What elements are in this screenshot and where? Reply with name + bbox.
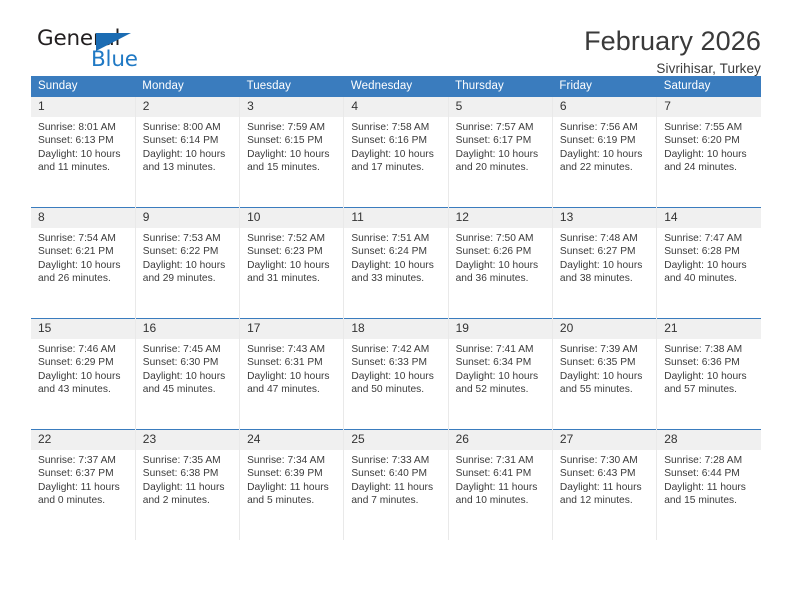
day-details: Sunrise: 7:38 AM Sunset: 6:36 PM Dayligh… — [657, 339, 761, 397]
calendar-day-cell[interactable]: 8Sunrise: 7:54 AM Sunset: 6:21 PM Daylig… — [31, 208, 135, 319]
calendar-body: 1Sunrise: 8:01 AM Sunset: 6:13 PM Daylig… — [31, 97, 761, 540]
day-details: Sunrise: 8:01 AM Sunset: 6:13 PM Dayligh… — [31, 117, 135, 175]
day-number: 28 — [657, 430, 761, 450]
day-details: Sunrise: 7:59 AM Sunset: 6:15 PM Dayligh… — [240, 117, 343, 175]
day-details: Sunrise: 7:57 AM Sunset: 6:17 PM Dayligh… — [449, 117, 552, 175]
day-details: Sunrise: 7:41 AM Sunset: 6:34 PM Dayligh… — [449, 339, 552, 397]
day-number: 14 — [657, 208, 761, 228]
calendar-day-cell[interactable]: 4Sunrise: 7:58 AM Sunset: 6:16 PM Daylig… — [344, 97, 448, 208]
calendar-day-cell[interactable]: 6Sunrise: 7:56 AM Sunset: 6:19 PM Daylig… — [552, 97, 656, 208]
day-details: Sunrise: 7:45 AM Sunset: 6:30 PM Dayligh… — [136, 339, 239, 397]
calendar-day-cell[interactable]: 27Sunrise: 7:30 AM Sunset: 6:43 PM Dayli… — [552, 430, 656, 541]
calendar-day-cell[interactable]: 9Sunrise: 7:53 AM Sunset: 6:22 PM Daylig… — [135, 208, 239, 319]
calendar-day-cell[interactable]: 26Sunrise: 7:31 AM Sunset: 6:41 PM Dayli… — [448, 430, 552, 541]
day-number: 6 — [553, 97, 656, 117]
day-number: 18 — [344, 319, 447, 339]
day-number: 1 — [31, 97, 135, 117]
calendar-week-row: 8Sunrise: 7:54 AM Sunset: 6:21 PM Daylig… — [31, 208, 761, 319]
calendar-day-cell[interactable]: 21Sunrise: 7:38 AM Sunset: 6:36 PM Dayli… — [657, 319, 761, 430]
weekday-header-monday: Monday — [135, 76, 239, 97]
calendar-day-cell[interactable]: 23Sunrise: 7:35 AM Sunset: 6:38 PM Dayli… — [135, 430, 239, 541]
day-details: Sunrise: 7:35 AM Sunset: 6:38 PM Dayligh… — [136, 450, 239, 508]
weekday-header-thursday: Thursday — [448, 76, 552, 97]
calendar-day-cell[interactable]: 15Sunrise: 7:46 AM Sunset: 6:29 PM Dayli… — [31, 319, 135, 430]
day-details: Sunrise: 7:39 AM Sunset: 6:35 PM Dayligh… — [553, 339, 656, 397]
day-number: 15 — [31, 319, 135, 339]
general-blue-logo[interactable]: General Blue — [31, 26, 161, 72]
day-number: 5 — [449, 97, 552, 117]
day-number: 21 — [657, 319, 761, 339]
day-number: 23 — [136, 430, 239, 450]
day-number: 19 — [449, 319, 552, 339]
day-details: Sunrise: 7:43 AM Sunset: 6:31 PM Dayligh… — [240, 339, 343, 397]
page-subtitle: Sivrihisar, Turkey — [584, 61, 761, 76]
day-details: Sunrise: 7:46 AM Sunset: 6:29 PM Dayligh… — [31, 339, 135, 397]
calendar-day-cell[interactable]: 13Sunrise: 7:48 AM Sunset: 6:27 PM Dayli… — [552, 208, 656, 319]
day-number: 9 — [136, 208, 239, 228]
day-number: 3 — [240, 97, 343, 117]
day-number: 10 — [240, 208, 343, 228]
logo-text-blue: Blue — [91, 47, 138, 72]
day-details: Sunrise: 7:30 AM Sunset: 6:43 PM Dayligh… — [553, 450, 656, 508]
day-number: 26 — [449, 430, 552, 450]
day-details: Sunrise: 7:51 AM Sunset: 6:24 PM Dayligh… — [344, 228, 447, 286]
calendar-week-row: 15Sunrise: 7:46 AM Sunset: 6:29 PM Dayli… — [31, 319, 761, 430]
calendar-header-row: Sunday Monday Tuesday Wednesday Thursday… — [31, 76, 761, 97]
calendar-day-cell[interactable]: 20Sunrise: 7:39 AM Sunset: 6:35 PM Dayli… — [552, 319, 656, 430]
weekday-header-friday: Friday — [552, 76, 656, 97]
calendar-day-cell[interactable]: 7Sunrise: 7:55 AM Sunset: 6:20 PM Daylig… — [657, 97, 761, 208]
day-number: 27 — [553, 430, 656, 450]
day-details: Sunrise: 7:52 AM Sunset: 6:23 PM Dayligh… — [240, 228, 343, 286]
day-details: Sunrise: 7:54 AM Sunset: 6:21 PM Dayligh… — [31, 228, 135, 286]
day-details: Sunrise: 7:50 AM Sunset: 6:26 PM Dayligh… — [449, 228, 552, 286]
weekday-header-tuesday: Tuesday — [240, 76, 344, 97]
day-details: Sunrise: 7:28 AM Sunset: 6:44 PM Dayligh… — [657, 450, 761, 508]
calendar-day-cell[interactable]: 10Sunrise: 7:52 AM Sunset: 6:23 PM Dayli… — [240, 208, 344, 319]
page-header: General Blue February 2026 Sivrihisar, T… — [31, 0, 761, 72]
day-details: Sunrise: 7:53 AM Sunset: 6:22 PM Dayligh… — [136, 228, 239, 286]
day-details: Sunrise: 7:48 AM Sunset: 6:27 PM Dayligh… — [553, 228, 656, 286]
calendar-week-row: 22Sunrise: 7:37 AM Sunset: 6:37 PM Dayli… — [31, 430, 761, 541]
calendar-page: General Blue February 2026 Sivrihisar, T… — [0, 0, 792, 612]
day-details: Sunrise: 7:37 AM Sunset: 6:37 PM Dayligh… — [31, 450, 135, 508]
calendar-day-cell[interactable]: 16Sunrise: 7:45 AM Sunset: 6:30 PM Dayli… — [135, 319, 239, 430]
calendar-day-cell[interactable]: 3Sunrise: 7:59 AM Sunset: 6:15 PM Daylig… — [240, 97, 344, 208]
day-details: Sunrise: 7:58 AM Sunset: 6:16 PM Dayligh… — [344, 117, 447, 175]
day-number: 22 — [31, 430, 135, 450]
day-details: Sunrise: 7:33 AM Sunset: 6:40 PM Dayligh… — [344, 450, 447, 508]
calendar-day-cell[interactable]: 28Sunrise: 7:28 AM Sunset: 6:44 PM Dayli… — [657, 430, 761, 541]
calendar-day-cell[interactable]: 17Sunrise: 7:43 AM Sunset: 6:31 PM Dayli… — [240, 319, 344, 430]
calendar-day-cell[interactable]: 11Sunrise: 7:51 AM Sunset: 6:24 PM Dayli… — [344, 208, 448, 319]
calendar-day-cell[interactable]: 25Sunrise: 7:33 AM Sunset: 6:40 PM Dayli… — [344, 430, 448, 541]
day-number: 7 — [657, 97, 761, 117]
calendar-day-cell[interactable]: 22Sunrise: 7:37 AM Sunset: 6:37 PM Dayli… — [31, 430, 135, 541]
calendar-day-cell[interactable]: 5Sunrise: 7:57 AM Sunset: 6:17 PM Daylig… — [448, 97, 552, 208]
calendar-day-cell[interactable]: 19Sunrise: 7:41 AM Sunset: 6:34 PM Dayli… — [448, 319, 552, 430]
calendar-day-cell[interactable]: 14Sunrise: 7:47 AM Sunset: 6:28 PM Dayli… — [657, 208, 761, 319]
day-number: 11 — [344, 208, 447, 228]
weekday-header-wednesday: Wednesday — [344, 76, 448, 97]
calendar-day-cell[interactable]: 1Sunrise: 8:01 AM Sunset: 6:13 PM Daylig… — [31, 97, 135, 208]
calendar-table: Sunday Monday Tuesday Wednesday Thursday… — [31, 76, 761, 540]
day-number: 12 — [449, 208, 552, 228]
day-number: 13 — [553, 208, 656, 228]
calendar-week-row: 1Sunrise: 8:01 AM Sunset: 6:13 PM Daylig… — [31, 97, 761, 208]
day-number: 16 — [136, 319, 239, 339]
day-number: 8 — [31, 208, 135, 228]
title-block: February 2026 Sivrihisar, Turkey — [584, 26, 761, 76]
day-number: 17 — [240, 319, 343, 339]
weekday-header-saturday: Saturday — [657, 76, 761, 97]
day-number: 2 — [136, 97, 239, 117]
day-number: 24 — [240, 430, 343, 450]
page-title: February 2026 — [584, 27, 761, 56]
calendar-day-cell[interactable]: 2Sunrise: 8:00 AM Sunset: 6:14 PM Daylig… — [135, 97, 239, 208]
weekday-header-sunday: Sunday — [31, 76, 135, 97]
day-details: Sunrise: 7:31 AM Sunset: 6:41 PM Dayligh… — [449, 450, 552, 508]
day-details: Sunrise: 7:47 AM Sunset: 6:28 PM Dayligh… — [657, 228, 761, 286]
day-number: 4 — [344, 97, 447, 117]
day-details: Sunrise: 7:34 AM Sunset: 6:39 PM Dayligh… — [240, 450, 343, 508]
day-details: Sunrise: 7:55 AM Sunset: 6:20 PM Dayligh… — [657, 117, 761, 175]
day-details: Sunrise: 7:42 AM Sunset: 6:33 PM Dayligh… — [344, 339, 447, 397]
day-details: Sunrise: 8:00 AM Sunset: 6:14 PM Dayligh… — [136, 117, 239, 175]
calendar-day-cell[interactable]: 18Sunrise: 7:42 AM Sunset: 6:33 PM Dayli… — [344, 319, 448, 430]
day-number: 25 — [344, 430, 447, 450]
calendar-day-cell[interactable]: 12Sunrise: 7:50 AM Sunset: 6:26 PM Dayli… — [448, 208, 552, 319]
calendar-day-cell[interactable]: 24Sunrise: 7:34 AM Sunset: 6:39 PM Dayli… — [240, 430, 344, 541]
day-details: Sunrise: 7:56 AM Sunset: 6:19 PM Dayligh… — [553, 117, 656, 175]
day-number: 20 — [553, 319, 656, 339]
weekday-header-row: Sunday Monday Tuesday Wednesday Thursday… — [31, 76, 761, 97]
